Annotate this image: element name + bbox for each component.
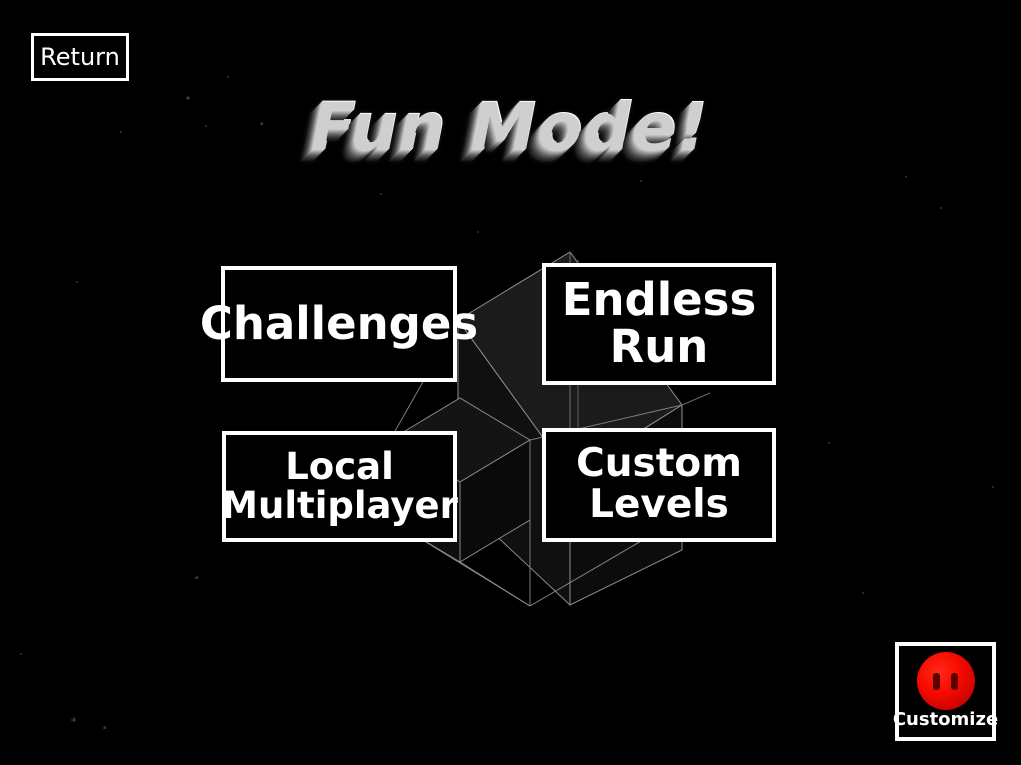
red-ball-character-icon xyxy=(917,652,975,710)
menu-button-custom-levels-line2: Levels xyxy=(576,485,742,526)
star-particle xyxy=(828,442,830,444)
ball-eye-right-icon xyxy=(951,673,958,690)
star-particle xyxy=(71,717,76,722)
return-button-label: Return xyxy=(40,45,120,70)
star-particle xyxy=(992,486,994,488)
star-particle xyxy=(76,281,78,283)
star-particle xyxy=(640,180,642,182)
star-particle xyxy=(195,576,198,579)
star-particle xyxy=(905,176,907,178)
menu-button-challenges-label: Challenges xyxy=(200,301,478,348)
menu-button-challenges[interactable]: Challenges xyxy=(221,266,457,382)
star-particle xyxy=(227,76,229,78)
star-particle xyxy=(380,193,382,195)
star-particle xyxy=(940,207,942,209)
page-title-text: Fun Mode! xyxy=(312,88,710,165)
return-button[interactable]: Return xyxy=(31,33,129,81)
menu-button-endless-run-line1: Endless Run xyxy=(546,277,772,371)
star-particle xyxy=(103,726,106,729)
page-title: Fun Mode! xyxy=(0,88,1021,165)
game-menu-screen: Fun Mode! Return Challenges Endless Run … xyxy=(0,0,1021,765)
menu-button-local-multiplayer-line1: Local xyxy=(221,448,458,486)
menu-button-challenges-line1: Challenges xyxy=(200,301,478,348)
menu-button-custom-levels[interactable]: Custom Levels xyxy=(542,428,776,542)
star-particle xyxy=(477,231,479,233)
customize-button[interactable]: Customize xyxy=(895,642,996,741)
star-particle xyxy=(862,592,864,594)
menu-button-local-multiplayer-label: Local Multiplayer xyxy=(221,448,458,525)
ball-eye-left-icon xyxy=(933,673,940,690)
star-particle xyxy=(20,653,22,655)
menu-button-endless-run-label: Endless Run xyxy=(546,277,772,371)
menu-button-endless-run[interactable]: Endless Run xyxy=(542,263,776,385)
customize-button-label: Customize xyxy=(893,711,998,729)
menu-button-custom-levels-label: Custom Levels xyxy=(576,444,742,525)
menu-button-custom-levels-line1: Custom xyxy=(576,444,742,485)
menu-button-local-multiplayer[interactable]: Local Multiplayer xyxy=(222,431,457,542)
menu-button-local-multiplayer-line2: Multiplayer xyxy=(221,487,458,525)
